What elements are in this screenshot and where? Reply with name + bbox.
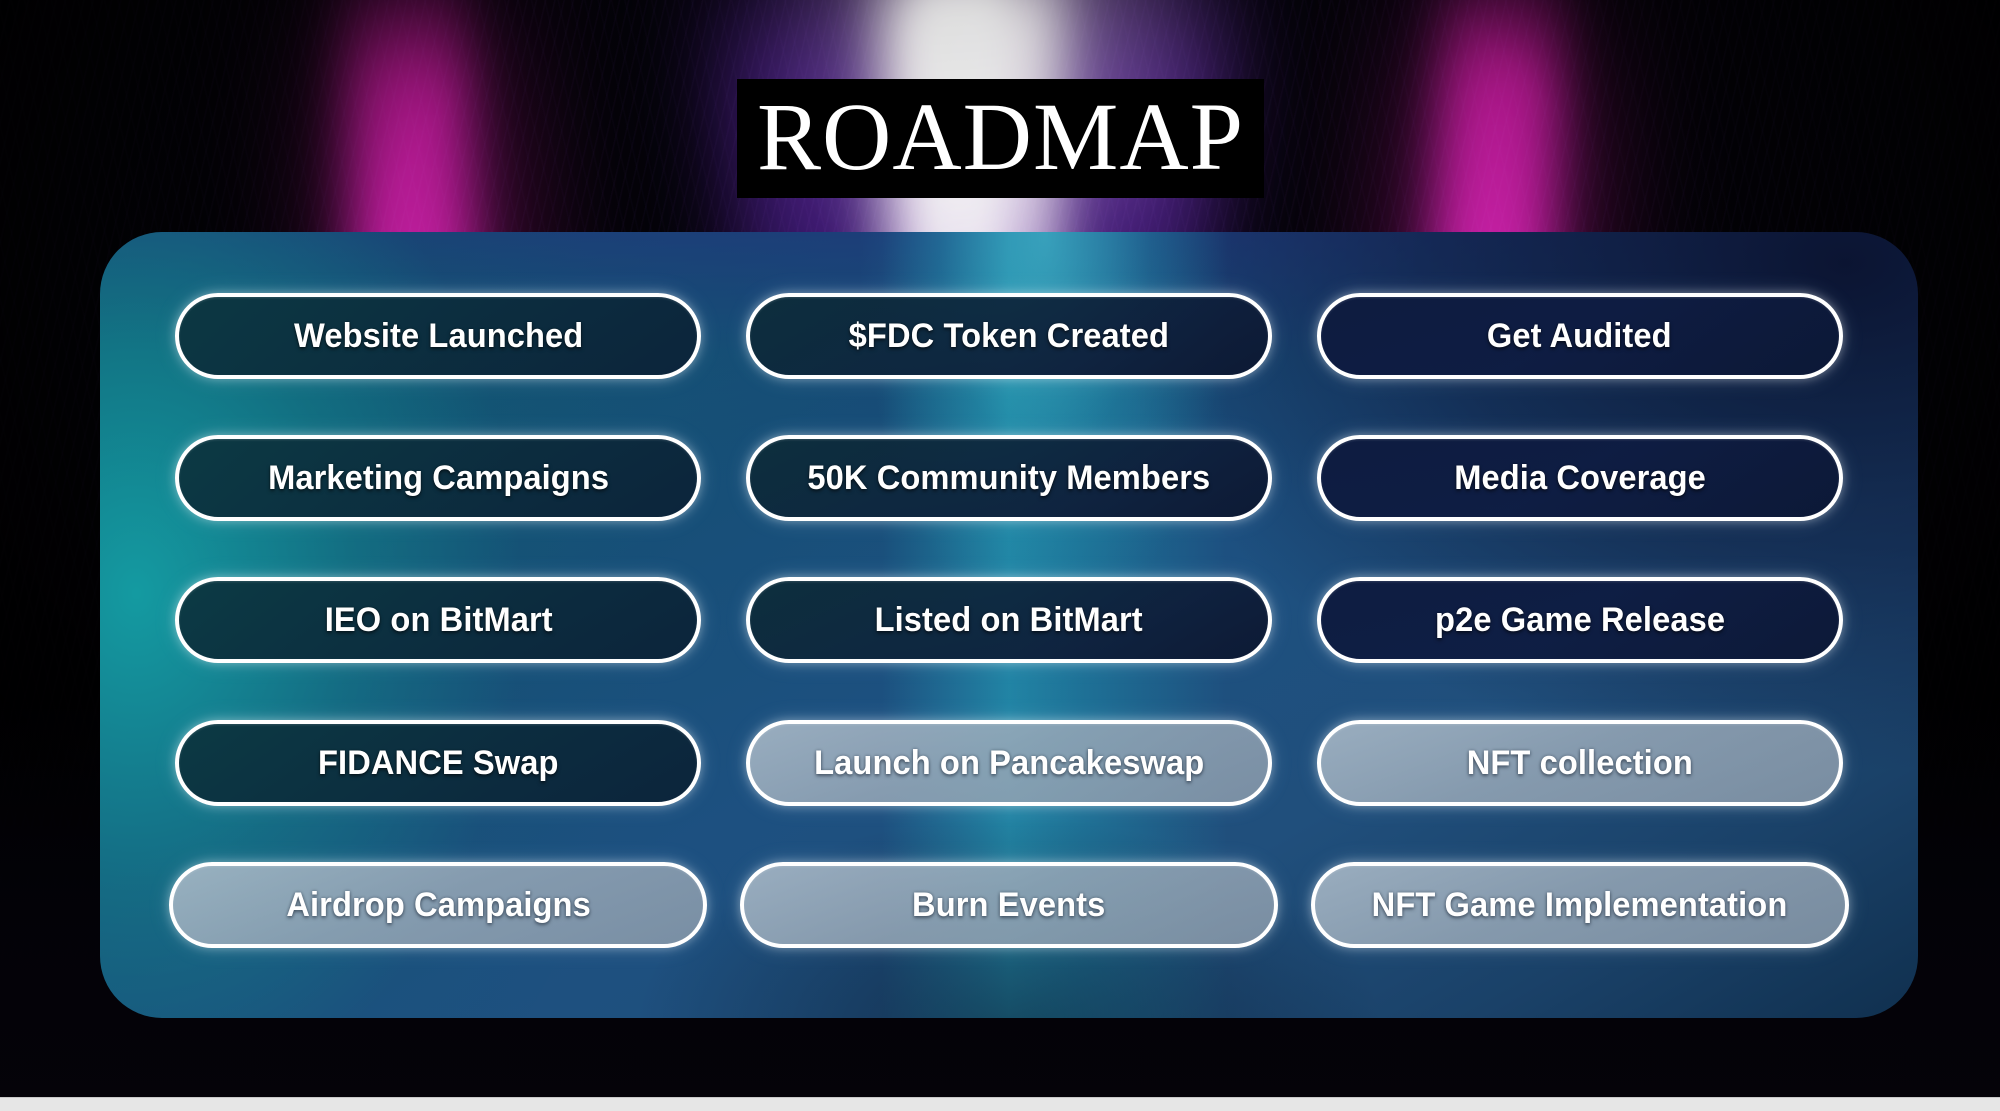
roadmap-cell: Marketing Campaigns [162,407,715,549]
roadmap-cell: Media Coverage [1303,407,1856,549]
roadmap-item-label: Marketing Campaigns [268,461,609,495]
roadmap-cell: p2e Game Release [1303,549,1856,691]
page-title-block: ROADMAP [737,79,1264,198]
roadmap-item-50k-community-members[interactable]: 50K Community Members [746,435,1272,521]
roadmap-item-label: NFT Game Implementation [1372,888,1788,922]
roadmap-cell: NFT collection [1303,692,1856,834]
roadmap-cell: Airdrop Campaigns [162,834,715,976]
roadmap-grid: Website Launched $FDC Token Created Get … [100,232,1918,1018]
page-title: ROADMAP [757,89,1244,185]
roadmap-item-airdrop-campaigns[interactable]: Airdrop Campaigns [169,862,707,948]
roadmap-cell: 50K Community Members [733,407,1286,549]
roadmap-item-label: p2e Game Release [1435,603,1725,637]
roadmap-cell: Listed on BitMart [733,549,1286,691]
roadmap-item-label: NFT collection [1467,746,1693,780]
roadmap-item-marketing-campaigns[interactable]: Marketing Campaigns [175,435,701,521]
roadmap-item-get-audited[interactable]: Get Audited [1317,293,1843,379]
roadmap-cell: NFT Game Implementation [1303,834,1856,976]
roadmap-cell: FIDANCE Swap [162,692,715,834]
roadmap-item-label: Airdrop Campaigns [286,888,591,922]
roadmap-item-launch-on-pancakeswap[interactable]: Launch on Pancakeswap [746,720,1272,806]
roadmap-cell: IEO on BitMart [162,549,715,691]
roadmap-cell: Website Launched [162,265,715,407]
roadmap-item-ieo-on-bitmart[interactable]: IEO on BitMart [175,577,701,663]
roadmap-item-label: 50K Community Members [808,461,1211,495]
browser-bottom-strip [0,1097,2000,1111]
roadmap-item-label: IEO on BitMart [324,603,552,637]
roadmap-item-p2e-game-release[interactable]: p2e Game Release [1317,577,1843,663]
roadmap-item-media-coverage[interactable]: Media Coverage [1317,435,1843,521]
roadmap-cell: Get Audited [1303,265,1856,407]
page-root: ROADMAP Website Launched $FDC Token Crea… [0,0,2000,1111]
roadmap-item-listed-on-bitmart[interactable]: Listed on BitMart [746,577,1272,663]
roadmap-item-fdc-token-created[interactable]: $FDC Token Created [746,293,1272,379]
roadmap-item-nft-game-implementation[interactable]: NFT Game Implementation [1311,862,1849,948]
roadmap-cell: Burn Events [733,834,1286,976]
roadmap-item-label: $FDC Token Created [849,319,1169,353]
roadmap-item-label: FIDANCE Swap [318,746,559,780]
roadmap-item-nft-collection[interactable]: NFT collection [1317,720,1843,806]
roadmap-cell: $FDC Token Created [733,265,1286,407]
roadmap-cell: Launch on Pancakeswap [733,692,1286,834]
roadmap-item-label: Get Audited [1487,319,1672,353]
roadmap-item-label: Media Coverage [1454,461,1706,495]
roadmap-item-label: Website Launched [294,319,583,353]
roadmap-item-label: Listed on BitMart [875,603,1143,637]
roadmap-item-label: Launch on Pancakeswap [814,746,1204,780]
roadmap-item-fidance-swap[interactable]: FIDANCE Swap [175,720,701,806]
roadmap-item-label: Burn Events [912,888,1105,922]
roadmap-item-website-launched[interactable]: Website Launched [175,293,701,379]
roadmap-item-burn-events[interactable]: Burn Events [740,862,1278,948]
roadmap-panel: Website Launched $FDC Token Created Get … [100,232,1918,1018]
